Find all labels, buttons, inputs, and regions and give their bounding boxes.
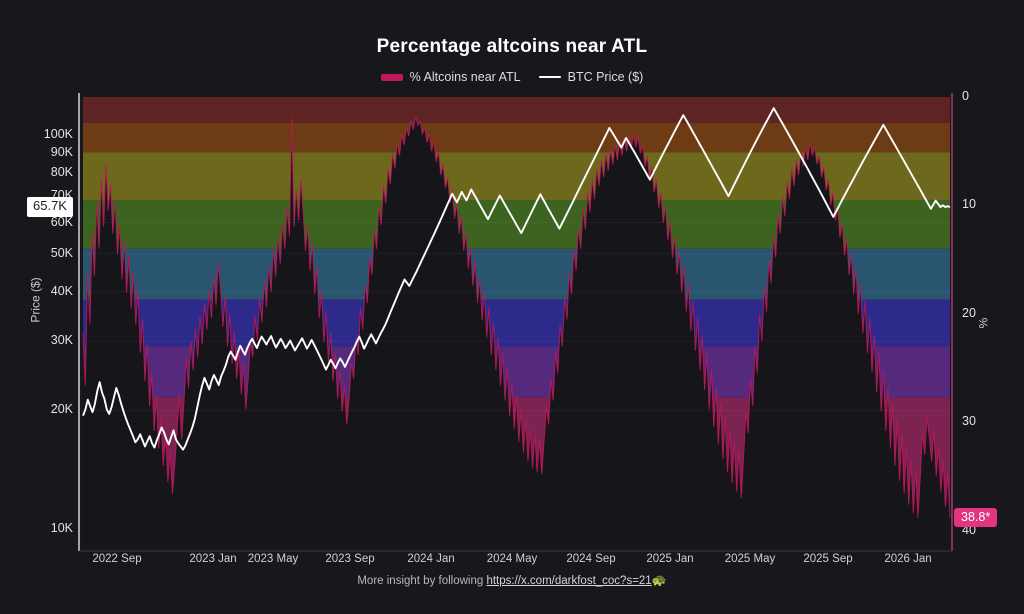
footer-credit: More insight by following https://x.com/… bbox=[0, 573, 1024, 587]
chart-root: Percentage altcoins near ATL % Altcoins … bbox=[0, 0, 1024, 614]
percent-marker-badge: 38.8* bbox=[954, 508, 997, 527]
price-marker-badge: 65.7K bbox=[27, 197, 73, 217]
band-brown bbox=[83, 123, 950, 152]
chart-plot-area bbox=[0, 0, 1024, 614]
turtle-icon: 🐢 bbox=[652, 573, 667, 587]
footer-link[interactable]: https://x.com/darkfost_coc?s=21 bbox=[486, 575, 651, 587]
band-dark-red bbox=[83, 97, 950, 123]
footer-prefix: More insight by following bbox=[357, 575, 486, 587]
